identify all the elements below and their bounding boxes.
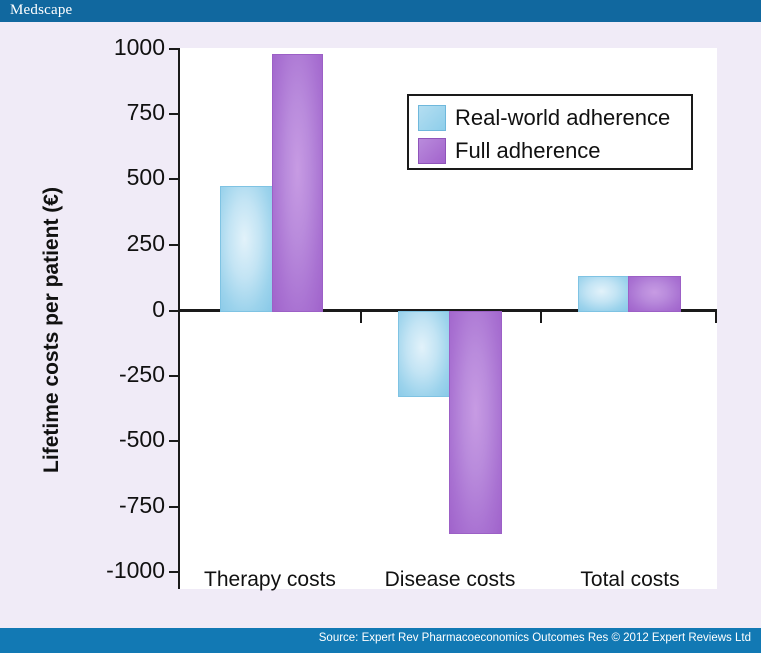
bar-therapy-costs-real-world xyxy=(220,186,274,312)
x-tick-separator-2 xyxy=(540,312,542,323)
x-axis-label-total-costs: Total costs xyxy=(546,568,714,592)
source-footer-bar: Source: Expert Rev Pharmacoeconomics Out… xyxy=(0,628,761,653)
bar-disease-costs-real-world xyxy=(398,311,451,397)
source-citation-label: Source: Expert Rev Pharmacoeconomics Out… xyxy=(319,632,751,644)
y-tick-label-neg250: -250 xyxy=(119,363,165,386)
y-tick-label-1000: 1000 xyxy=(114,36,165,59)
legend-swatch-real-world-icon xyxy=(418,105,446,131)
y-tick-neg1000 xyxy=(169,571,178,573)
x-axis-label-therapy-costs: Therapy costs xyxy=(186,568,354,592)
y-tick-0 xyxy=(169,310,178,312)
y-tick-500 xyxy=(169,178,178,180)
medscape-header-bar: Medscape xyxy=(0,0,761,22)
medscape-brand-label: Medscape xyxy=(10,2,72,19)
y-tick-neg750 xyxy=(169,506,178,508)
y-tick-label-0: 0 xyxy=(152,298,165,321)
y-axis-title: Lifetime costs per patient (€) xyxy=(40,140,64,520)
y-tick-neg250 xyxy=(169,375,178,377)
x-axis-label-disease-costs: Disease costs xyxy=(366,568,534,592)
y-tick-label-neg500: -500 xyxy=(119,428,165,451)
bar-total-costs-full xyxy=(628,276,681,312)
y-tick-250 xyxy=(169,244,178,246)
legend-item-real-world-adherence: Real-world adherence xyxy=(418,101,691,134)
x-tick-separator-3 xyxy=(715,312,717,323)
legend-swatch-full-adherence-icon xyxy=(418,138,446,164)
legend-label-real-world: Real-world adherence xyxy=(455,107,670,129)
chart-legend: Real-world adherence Full adherence xyxy=(407,94,693,170)
bar-therapy-costs-full xyxy=(272,54,323,312)
legend-item-full-adherence: Full adherence xyxy=(418,134,691,167)
y-tick-label-750: 750 xyxy=(127,101,165,124)
x-tick-separator-1 xyxy=(360,312,362,323)
y-tick-label-500: 500 xyxy=(127,166,165,189)
y-tick-750 xyxy=(169,113,178,115)
y-tick-neg500 xyxy=(169,440,178,442)
bar-total-costs-real-world xyxy=(578,276,630,312)
y-axis-line xyxy=(178,48,180,589)
y-tick-label-neg750: -750 xyxy=(119,494,165,517)
y-tick-label-neg1000: -1000 xyxy=(106,559,165,582)
bar-disease-costs-full xyxy=(449,311,502,534)
y-tick-label-250: 250 xyxy=(127,232,165,255)
chart-canvas: Lifetime costs per patient (€) 1000 750 … xyxy=(0,22,761,628)
y-tick-1000 xyxy=(169,48,178,50)
legend-label-full-adherence: Full adherence xyxy=(455,140,601,162)
